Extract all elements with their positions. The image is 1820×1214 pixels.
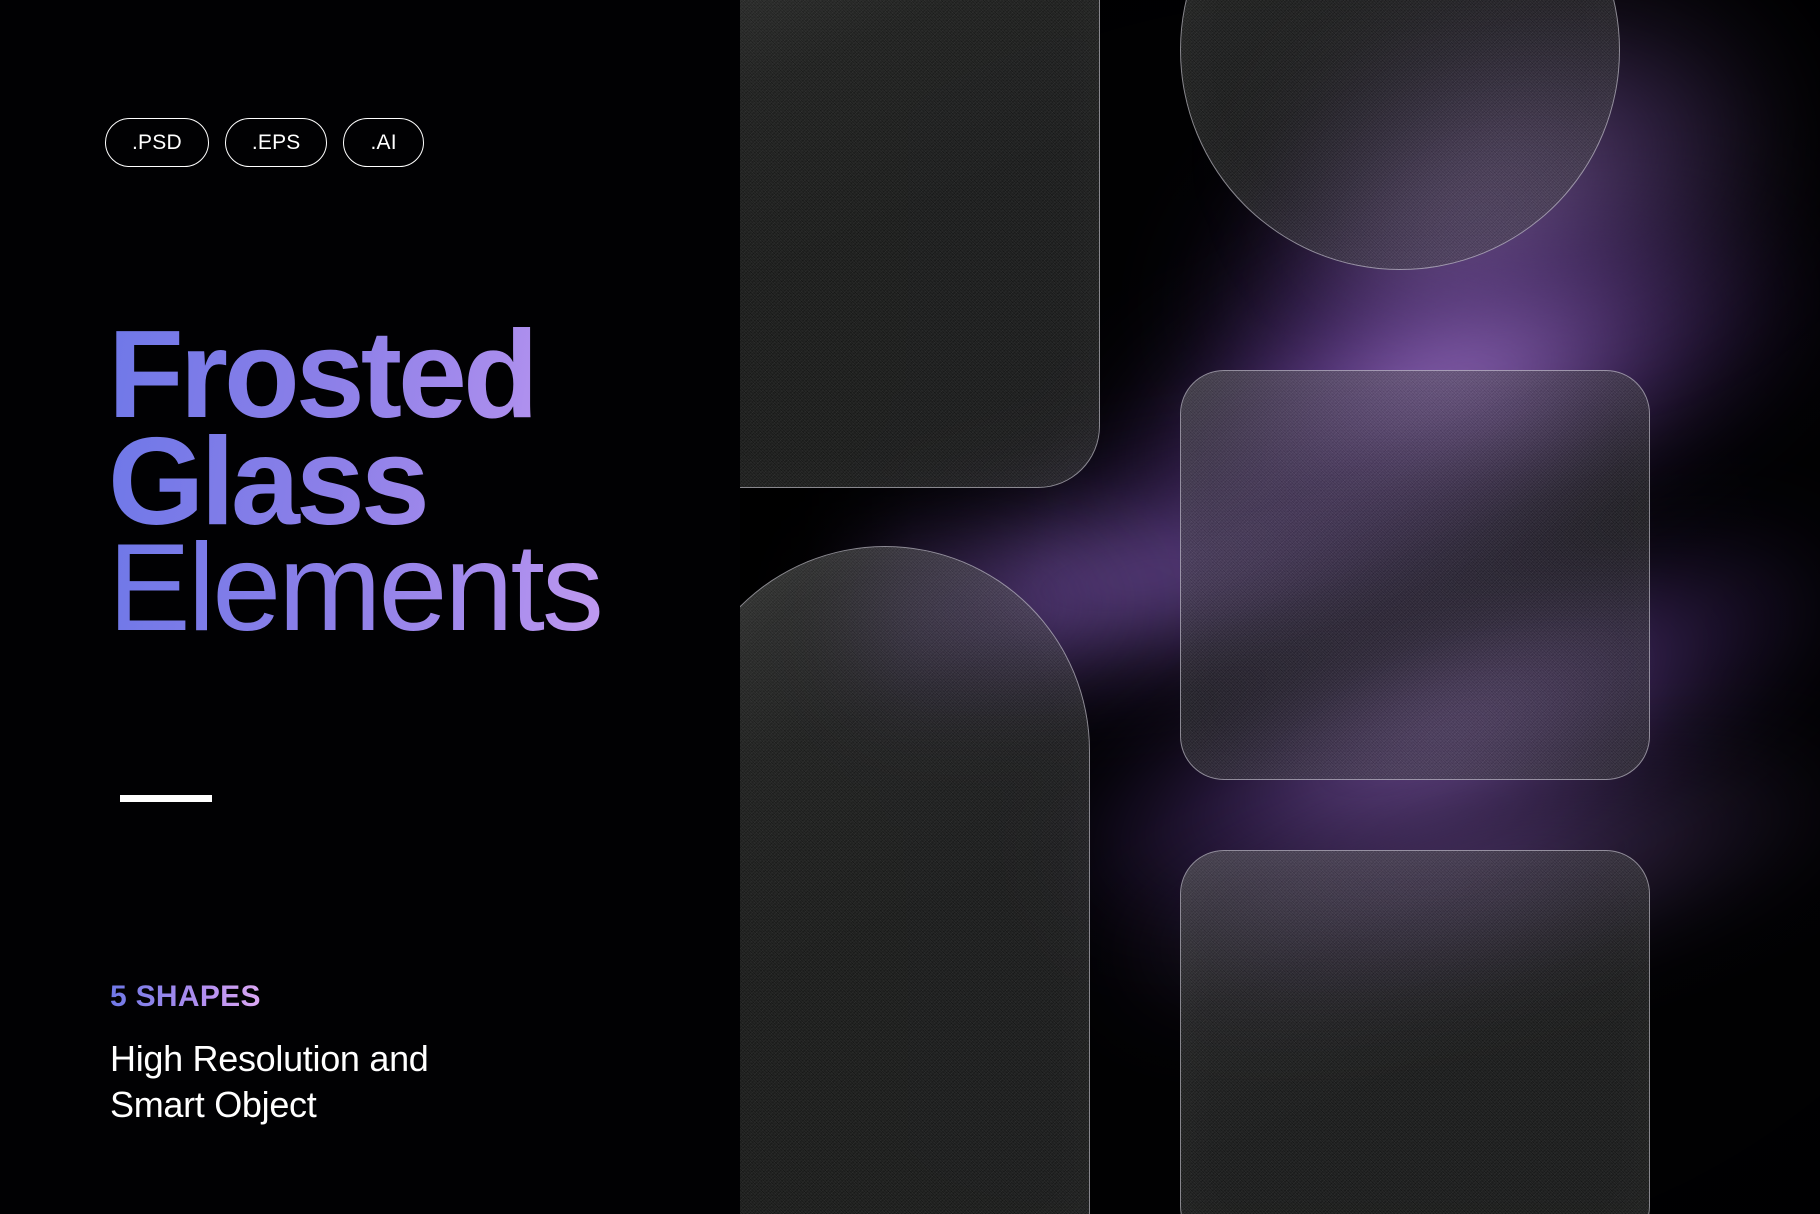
poster-canvas: .PSD .EPS .AI Frosted Glass Elements 5 S… <box>0 0 1820 1214</box>
description-line-2: Smart Object <box>110 1082 730 1128</box>
badge-eps[interactable]: .EPS <box>225 118 328 167</box>
page-title: Frosted Glass Elements <box>108 322 748 642</box>
poster-content: .PSD .EPS .AI Frosted Glass Elements 5 S… <box>0 0 740 1214</box>
footer-block: 5 SHAPES High Resolution and Smart Objec… <box>110 980 730 1128</box>
glass-shape-circle-top-right <box>1180 0 1620 270</box>
glass-shape-arch-bottom-left <box>740 546 1090 1214</box>
glass-artwork-panel <box>740 0 1820 1214</box>
divider-rule <box>120 795 212 802</box>
glass-shape-rounded-rectangle-right <box>1180 370 1650 780</box>
file-format-badges: .PSD .EPS .AI <box>105 118 424 167</box>
description-line-1: High Resolution and <box>110 1036 730 1082</box>
glass-shape-rounded-rectangle-top <box>740 0 1100 488</box>
glass-shape-rounded-rectangle-bottom-right <box>1180 850 1650 1214</box>
title-line-elements: Elements <box>108 535 748 642</box>
badge-psd[interactable]: .PSD <box>105 118 209 167</box>
badge-ai[interactable]: .AI <box>343 118 423 167</box>
shapes-count-label: 5 SHAPES <box>110 980 261 1014</box>
